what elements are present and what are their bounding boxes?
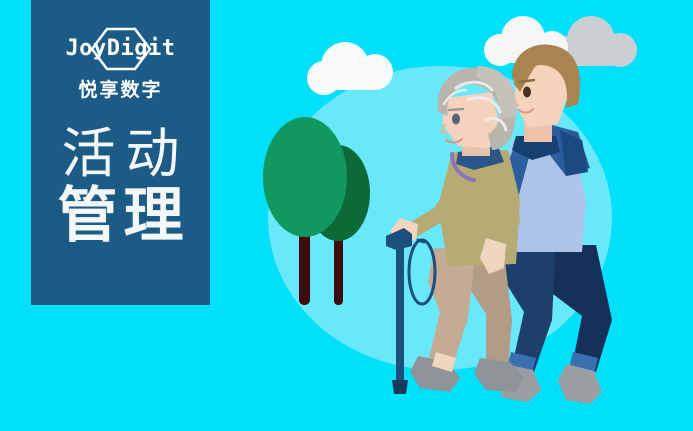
cane-tip <box>392 380 408 394</box>
page-title: 活动 管理 <box>52 126 190 248</box>
cloud-left <box>307 42 393 95</box>
brand-wordmark: JoyDigit <box>66 38 176 60</box>
woman-eyebrow <box>449 109 463 110</box>
page-title-line-2: 管理 <box>52 185 190 248</box>
title-panel: JoyDigit 悦享数字 活动 管理 <box>31 0 210 305</box>
cane-shaft <box>396 244 404 384</box>
woman-eye <box>452 114 460 125</box>
man-eye <box>523 87 531 98</box>
poster-canvas: JoyDigit 悦享数字 活动 管理 <box>0 0 693 431</box>
brand-subtitle: 悦享数字 <box>78 81 162 100</box>
page-title-line-1: 活动 <box>52 126 190 183</box>
brand-logo: JoyDigit <box>46 26 196 72</box>
cane-strap-link <box>418 240 424 242</box>
